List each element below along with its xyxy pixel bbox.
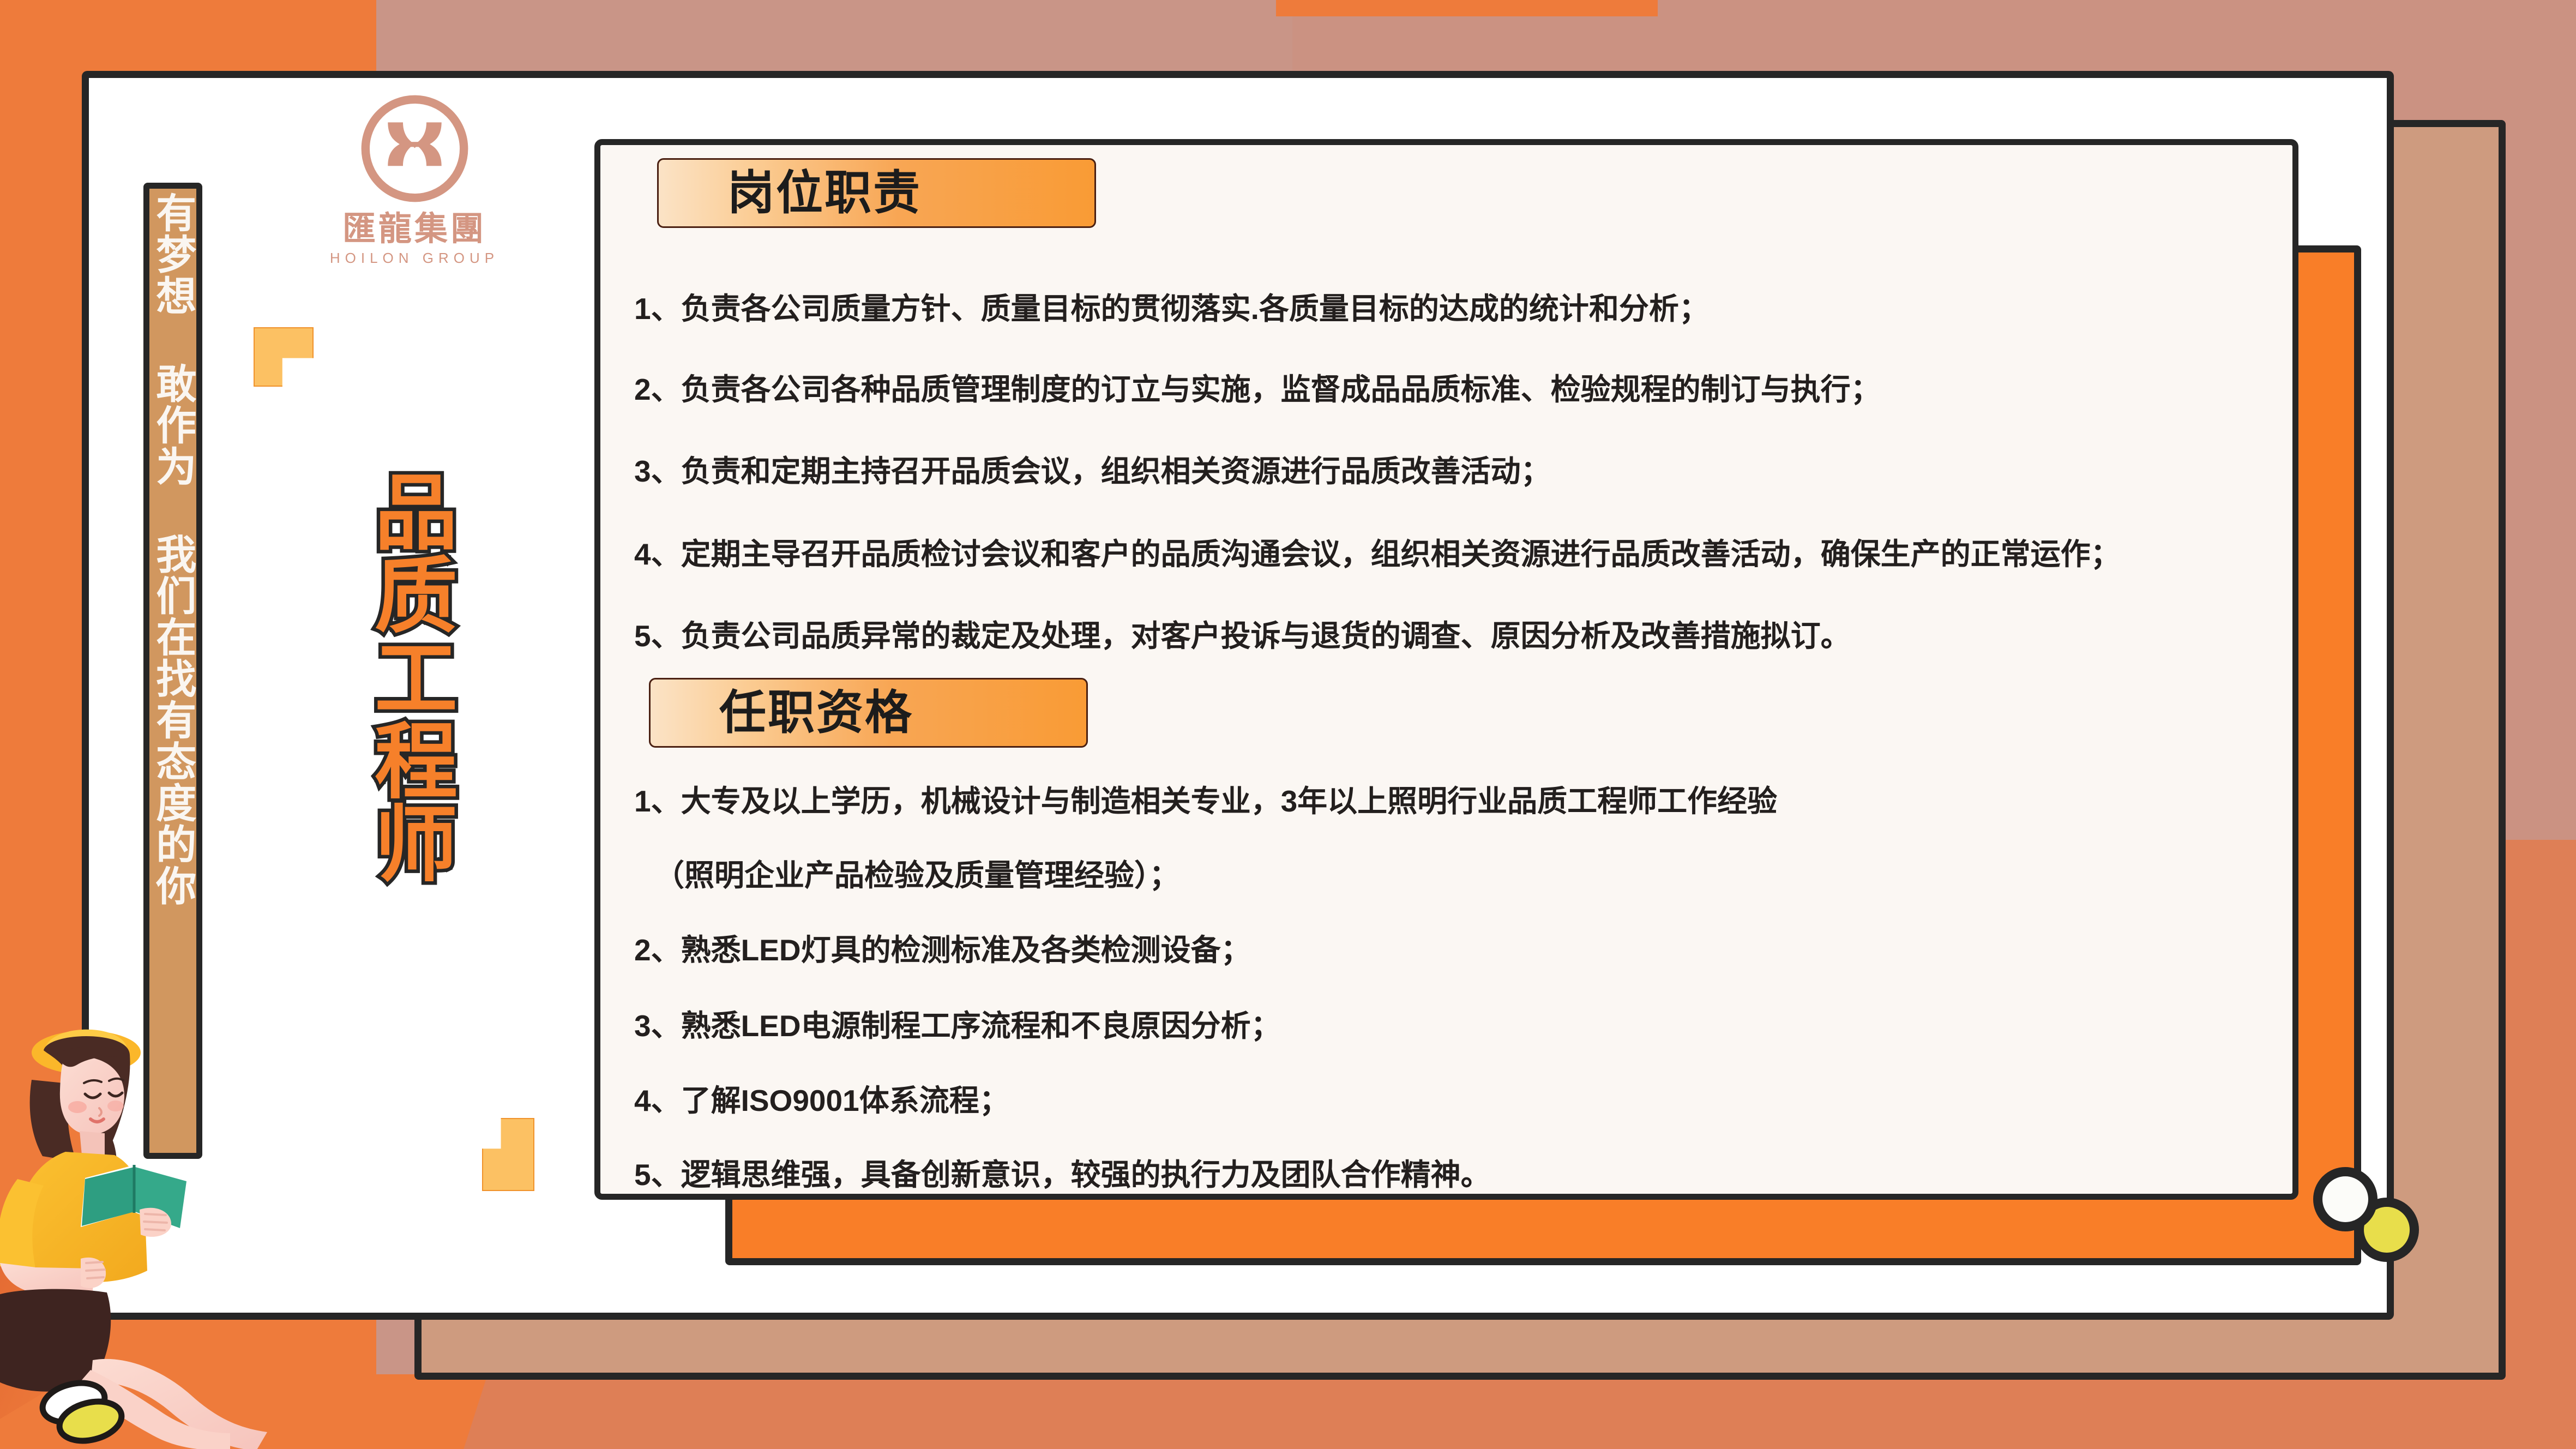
- list-item: 3、负责和定期主持召开品质会议，组织相关资源进行品质改善活动；: [634, 454, 1551, 489]
- job-title: 品质工程师: [325, 469, 450, 883]
- poster-canvas: 有梦想 敢作为 我们在找有态度的你 匯龍集團 HOILON GROUP 品质工程…: [0, 0, 2576, 1449]
- brand-name-cn: 匯龍集團: [342, 212, 486, 245]
- list-item: （照明企业产品检验及质量管理经验）；: [654, 858, 1179, 893]
- brand-name-en: HOILON GROUP: [330, 251, 499, 265]
- section-header-duties-label: 岗位职责: [659, 170, 922, 217]
- brand-logo: 匯龍集團 HOILON GROUP: [305, 93, 523, 311]
- list-item: 2、负责各公司各种品质管理制度的订立与实施，监督成品品质标准、检验规程的制订与执…: [634, 372, 1881, 407]
- list-item: 1、大专及以上学历，机械设计与制造相关专业，3年以上照明行业品质工程师工作经验: [634, 784, 1777, 819]
- list-item: 4、定期主导召开品质检讨会议和客户的品质沟通会议，组织相关资源进行品质改善活动，…: [634, 537, 2121, 572]
- list-item: 2、熟悉LED灯具的检测标准及各类检测设备；: [634, 933, 1251, 968]
- woman-reading-book-illustration: [0, 998, 333, 1449]
- decorative-circle-white-icon: [2313, 1167, 2378, 1231]
- section-header-duties: 岗位职责: [657, 158, 1096, 228]
- section-header-qualifications: 任职资格: [649, 678, 1088, 748]
- section-header-qualifications-label: 任职资格: [651, 689, 913, 736]
- list-item: 5、负责公司品质异常的裁定及处理，对客户投诉与退货的调查、原因分析及改善措施拟订…: [634, 618, 1851, 654]
- list-item: 4、了解ISO9001体系流程；: [634, 1083, 1009, 1119]
- slogan-text: 有梦想 敢作为 我们在找有态度的你: [152, 189, 193, 906]
- hoilon-circle-h-monogram-icon: [359, 93, 471, 205]
- list-item: 5、逻辑思维强，具备创新意识，较强的执行力及团队合作精神。: [634, 1157, 1491, 1193]
- background-orange-strip-top: [1276, 0, 1658, 16]
- list-item: 3、熟悉LED电源制程工序流程和不良原因分析；: [634, 1008, 1281, 1044]
- list-item: 1、负责各公司质量方针、质量目标的贯彻落实.各质量目标的达成的统计和分析；: [634, 291, 1709, 327]
